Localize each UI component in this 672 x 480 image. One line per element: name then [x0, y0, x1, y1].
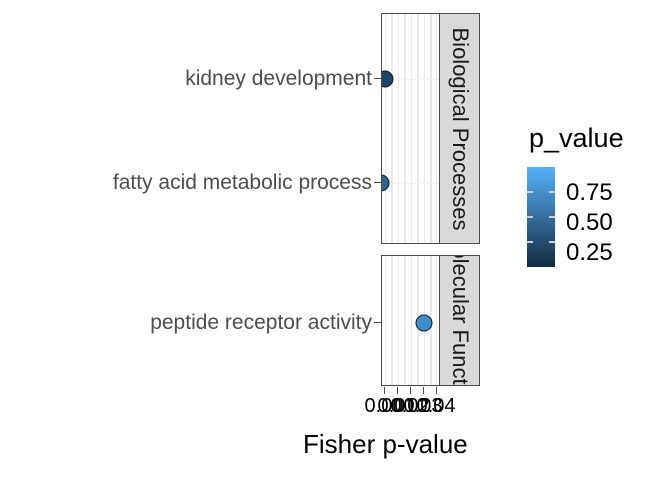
plot-area-molecular-function	[382, 256, 440, 385]
gridline-v-major	[417, 14, 419, 243]
legend-label-0.50: 0.50	[566, 211, 613, 235]
x-axis-tick-0	[384, 387, 385, 394]
legend-tick-0.75-right	[549, 191, 555, 193]
data-point-fatty-acid-metabolic-process[interactable]	[382, 175, 390, 192]
gridline-v	[398, 256, 399, 385]
x-axis-tick-1	[397, 387, 398, 394]
x-axis-tick-4	[436, 387, 437, 394]
gridline-v-major	[391, 14, 393, 243]
gridline-v-major	[404, 14, 406, 243]
x-axis-tick-2	[410, 387, 411, 394]
gridline-v	[424, 14, 425, 243]
y-tick-kidney-development	[374, 78, 381, 79]
y-axis-label-peptide-receptor-activity: peptide receptor activity	[98, 312, 372, 333]
data-point-peptide-receptor-activity[interactable]	[416, 315, 433, 332]
gridline-h	[382, 183, 439, 184]
facet-strip-biological-processes: Biological Processes	[440, 14, 479, 243]
legend-tick-0.25	[527, 241, 533, 243]
y-axis-label-kidney-development: kidney development	[144, 68, 372, 89]
facet-strip-molecular-function: Molecular Function	[440, 256, 479, 385]
legend-tick-0.75	[527, 191, 533, 193]
gridline-v	[411, 14, 412, 243]
y-tick-peptide-receptor	[374, 322, 381, 323]
gridline-v-major	[391, 256, 393, 385]
legend-tick-0.25-right	[549, 241, 555, 243]
facet-panel-molecular-function: Molecular Function	[381, 255, 480, 386]
facet-panel-biological-processes: Biological Processes	[381, 13, 480, 244]
x-axis-title: Fisher p-value	[303, 431, 468, 457]
gridline-v-major	[404, 256, 406, 385]
legend-label-0.25: 0.25	[566, 241, 613, 265]
x-axis-tick-3	[423, 387, 424, 394]
chart-canvas: Biological Processes kidney development …	[0, 0, 672, 480]
y-tick-fatty-acid	[374, 182, 381, 183]
gridline-v	[398, 14, 399, 243]
gridline-v	[436, 14, 437, 243]
y-axis-label-fatty-acid-metabolic-process: fatty acid metabolic process	[54, 172, 372, 193]
gridline-v-major	[430, 14, 432, 243]
gridline-v	[436, 256, 437, 385]
legend-tick-0.50-right	[549, 216, 555, 218]
plot-area-biological-processes	[382, 14, 440, 243]
facet-strip-label: Molecular Function	[449, 256, 471, 385]
gridline-v	[411, 256, 412, 385]
legend-tick-0.50	[527, 216, 533, 218]
gridline-v	[385, 256, 386, 385]
legend-label-0.75: 0.75	[566, 181, 613, 205]
facet-strip-label: Biological Processes	[449, 27, 471, 230]
gridline-v	[385, 14, 386, 243]
legend-title: p_value	[529, 125, 624, 152]
x-axis-tick-label-4: 0.04	[417, 396, 456, 416]
